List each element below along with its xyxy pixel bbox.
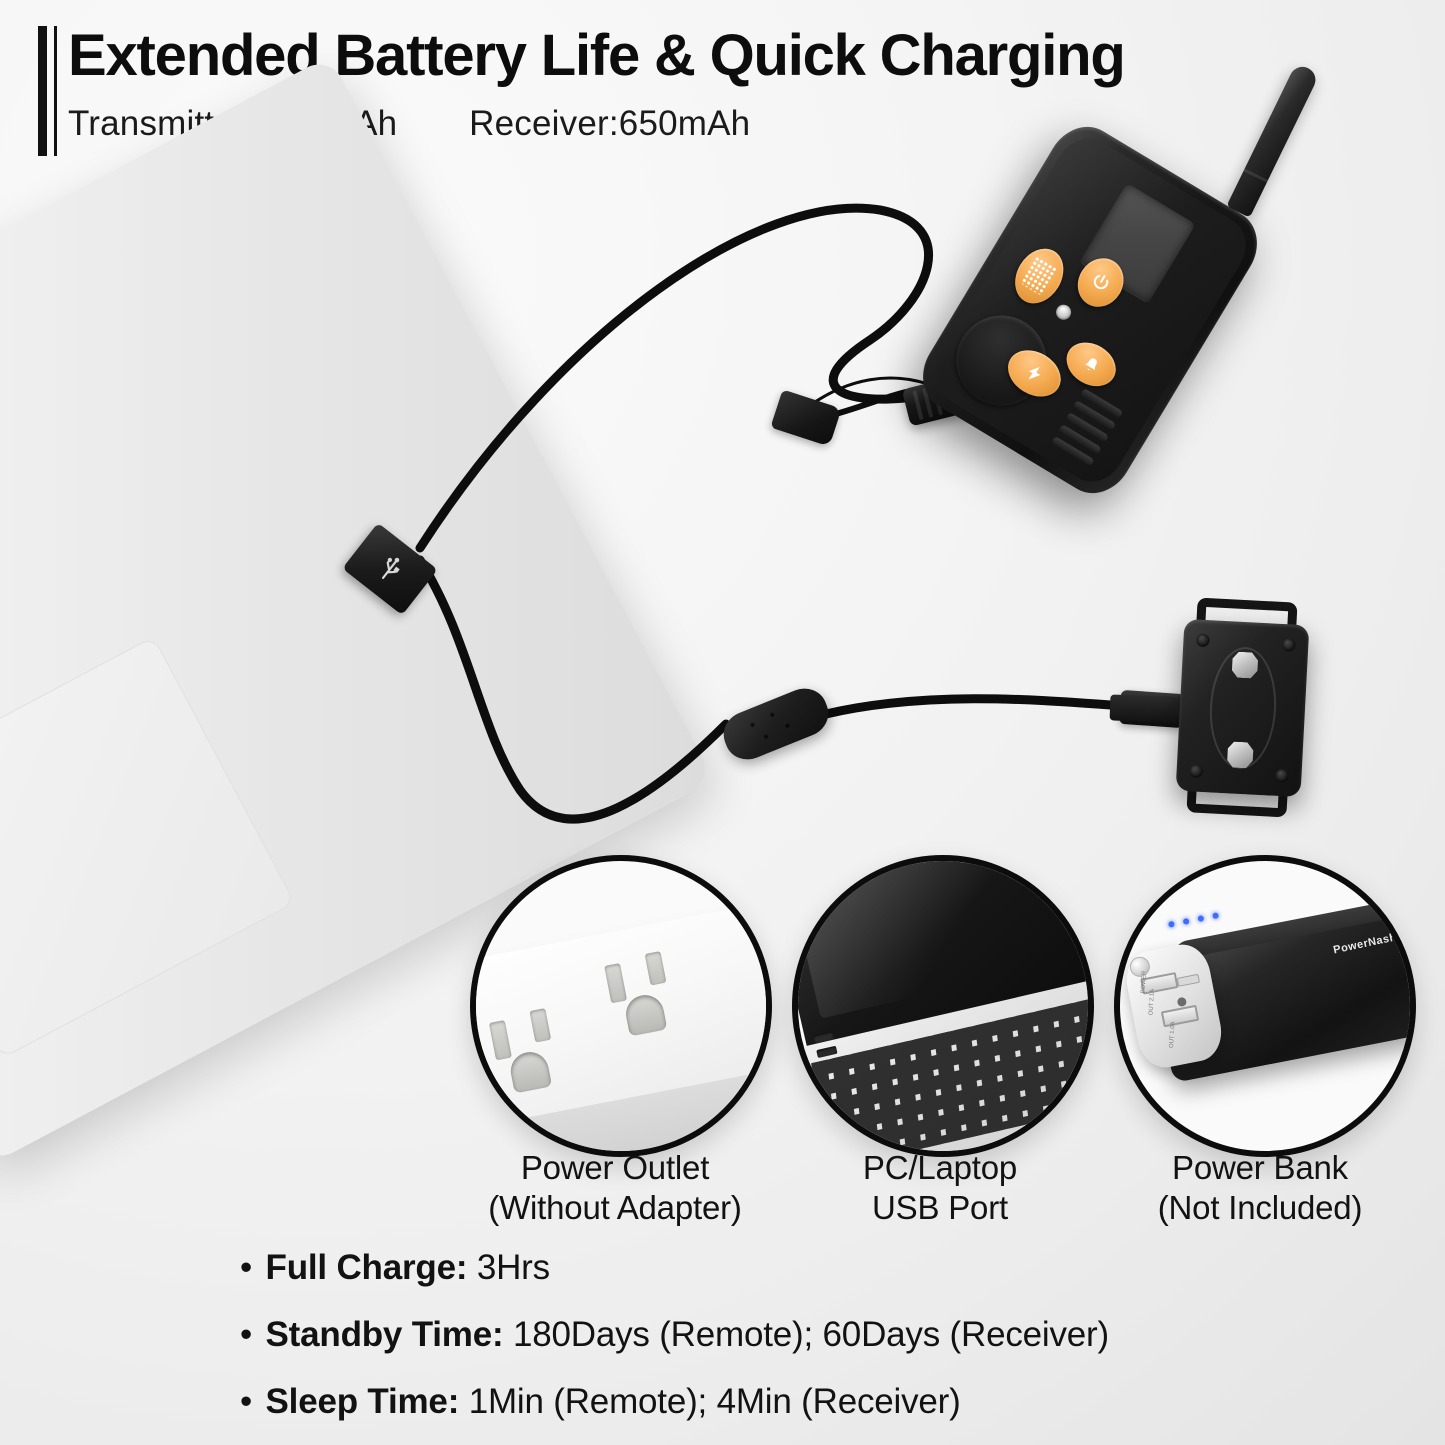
antenna-seam	[1243, 169, 1268, 183]
remote-indicator-led	[1053, 302, 1074, 323]
spec-value: 1Min (Remote); 4Min (Receiver)	[469, 1382, 961, 1421]
socket-ground-hole	[623, 992, 668, 1037]
mini-screen-reflection	[792, 855, 1065, 1019]
power-icon	[1087, 269, 1114, 296]
caption-line-1: PC/Laptop	[780, 1148, 1100, 1188]
spec-value: 3Hrs	[477, 1248, 550, 1287]
title-accent-bars	[38, 26, 57, 156]
charging-port-dust-cap	[770, 389, 841, 446]
splitter-dot-4	[785, 723, 790, 728]
cable-y-splitter	[717, 682, 835, 767]
page-title: Extended Battery Life & Quick Charging	[68, 22, 1125, 89]
accent-bar-thin	[54, 26, 57, 156]
receiver-screw-bottom-right	[1275, 769, 1289, 783]
outlet-socket-right	[599, 945, 709, 1046]
caption-line-2: (Without Adapter)	[455, 1188, 775, 1228]
spec-label: Full Charge:	[266, 1248, 468, 1287]
splitter-dot-1	[750, 722, 755, 727]
remote-transmitter	[909, 114, 1271, 507]
power-bank-power-button[interactable]	[1128, 955, 1151, 978]
usb-icon	[366, 545, 414, 593]
led-1	[1168, 921, 1175, 928]
spec-item-sleep-time: • Sleep Time: 1Min (Remote); 4Min (Recei…	[240, 1382, 1400, 1422]
receiver-collar-unit	[1174, 597, 1310, 818]
receiver-screw-top-left	[1196, 634, 1210, 648]
socket-ground-hole	[508, 1049, 553, 1094]
receiver-capacity: Receiver:650mAh	[469, 104, 750, 143]
battery-capacity-subtitle: Transmitter: 300mAh Receiver:650mAh	[68, 104, 750, 144]
infographic-canvas: Extended Battery Life & Quick Charging T…	[0, 0, 1445, 1445]
power-bank-micro-usb-in	[1177, 974, 1200, 987]
power-bank-led-indicators	[1168, 912, 1219, 928]
lightning-bolt-icon	[1021, 360, 1048, 387]
label-out-21a: OUT 2.1A	[1148, 989, 1155, 1016]
outlet-socket-left	[484, 1002, 594, 1103]
led-4	[1212, 912, 1219, 919]
bullet-dot-icon: •	[240, 1315, 256, 1355]
spec-value: 180Days (Remote); 60Days (Receiver)	[513, 1315, 1109, 1354]
splitter-dot-2	[770, 712, 775, 717]
bullet-dot-icon: •	[240, 1248, 256, 1288]
caption-line-2: (Not Included)	[1100, 1188, 1420, 1228]
spec-label: Standby Time:	[266, 1315, 504, 1354]
spec-item-standby-time: • Standby Time: 180Days (Remote); 60Days…	[240, 1315, 1400, 1355]
caption-power-bank: Power Bank (Not Included)	[1100, 1148, 1420, 1229]
vibration-button[interactable]	[1005, 240, 1073, 312]
remote-antenna	[1226, 62, 1320, 217]
label-out-10a: OUT 1.0A	[1169, 1021, 1176, 1048]
usb-port-2	[816, 1046, 837, 1058]
label-power: POWER	[1141, 971, 1148, 994]
caption-line-2: USB Port	[780, 1188, 1100, 1228]
socket-slot-left	[489, 1020, 512, 1060]
spec-item-full-charge: • Full Charge: 3Hrs	[240, 1248, 1400, 1288]
inset-power-bank: PowerNash POWER OUT 2.1A OUT 1.0A	[1114, 855, 1416, 1157]
power-bank-brand: PowerNash	[1332, 931, 1398, 956]
receiver-screw-bottom-left	[1189, 764, 1203, 778]
led-2	[1183, 918, 1190, 925]
power-bank-usb-out-1a	[1161, 1005, 1199, 1028]
receiver-screw-top-right	[1282, 638, 1296, 652]
caption-line-1: Power Outlet	[455, 1148, 775, 1188]
spec-list: • Full Charge: 3Hrs • Standby Time: 180D…	[240, 1248, 1400, 1445]
bell-icon	[1078, 351, 1104, 377]
vibration-icon	[1020, 256, 1059, 297]
socket-slot-right	[529, 1008, 551, 1042]
caption-pc-laptop: PC/Laptop USB Port	[780, 1148, 1100, 1229]
splitter-dot-3	[763, 734, 768, 739]
power-bank-flashlight	[1177, 997, 1188, 1008]
spec-label: Sleep Time:	[266, 1382, 460, 1421]
inset-pc-laptop-usb	[792, 855, 1094, 1157]
socket-slot-left	[604, 963, 627, 1003]
beep-button[interactable]	[1059, 334, 1124, 395]
inset-power-outlet	[470, 855, 772, 1157]
bullet-dot-icon: •	[240, 1382, 256, 1422]
socket-slot-right	[645, 951, 667, 985]
accent-bar-thick	[38, 26, 47, 156]
caption-power-outlet: Power Outlet (Without Adapter)	[455, 1148, 775, 1229]
caption-line-1: Power Bank	[1100, 1148, 1420, 1188]
led-3	[1197, 915, 1204, 922]
receiver-body	[1176, 619, 1310, 797]
